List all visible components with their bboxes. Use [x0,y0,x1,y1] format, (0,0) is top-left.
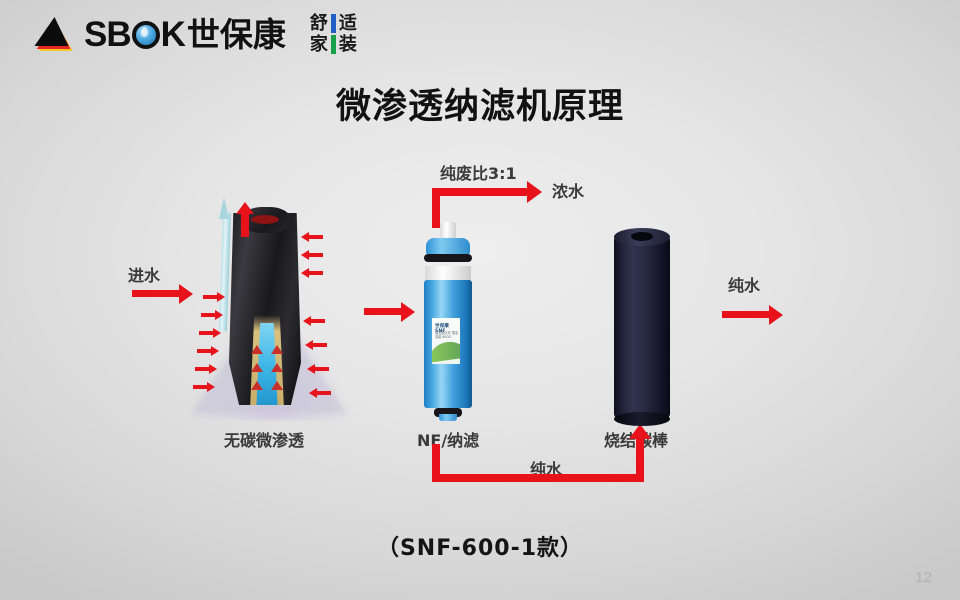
comfort-logo-char-2: 适 [339,15,357,33]
stage1-inflow-arrow-r5 [313,343,327,347]
stage-nf-membrane-illustration: 世保康 SNF 纳滤膜元件 额定流量 600G [418,222,480,420]
arrow-concentrate-head [527,181,542,203]
arrow-return-head [629,424,651,439]
nf-oring-upper [424,254,472,262]
stage1-flow-chevron-1 [251,345,263,354]
stage1-top-port [251,215,279,224]
comfort-logo-bar-blue [331,14,336,33]
stage1-flow-chevron-2 [271,345,283,354]
pipe-return-vertical-right [636,438,644,482]
stage1-inflow-arrow-r7 [317,391,331,395]
pipe-return-horizontal [432,474,644,482]
stage1-flow-chevron-3 [251,363,263,372]
stage1-inflow-arrow-r4 [311,319,325,323]
label-waste-ratio: 纯废比3:1 [440,160,517,184]
nf-foot [439,414,457,421]
stage1-outflow-arrow [241,213,249,237]
stage-sintered-carbon-rod-illustration [614,228,674,420]
brand-letters-sb: SB [84,17,131,52]
stage1-inflow-arrow-l5 [195,367,209,371]
arrow-stage1-to-stage2 [364,308,402,315]
carbon-rod-body [614,236,670,418]
stage1-inflow-arrow-l1 [203,295,217,299]
comfort-home-logo: 舒 适 家 装 [310,14,357,54]
slide-canvas: SB K 世保康 舒 适 家 装 微渗透纳滤机原理 进水 纯废比3:1 浓水 纯… [0,0,960,600]
carbon-rod-center-hole [631,232,653,241]
nf-shoulder [426,238,470,254]
sbok-triangle-logo-icon [36,14,82,54]
label-stage-nf: NF/纳滤 [417,427,479,451]
model-code: （SNF-600-1款） [0,530,960,562]
label-outlet-pure-water: 纯水 [728,272,760,296]
stage1-flow-chevron-5 [251,381,263,390]
label-inlet: 进水 [128,262,160,286]
stage1-inflow-arrow-l4 [197,349,211,353]
comfort-logo-bar-green [331,35,336,54]
brand-name-cn: 世保康 [187,18,286,51]
stage-carbon-free-micro-osmosis-illustration [185,195,360,420]
stage1-inflow-arrow-l3 [199,331,213,335]
comfort-logo-char-4: 装 [339,36,357,54]
slide-title: 微渗透纳滤机原理 [0,78,960,129]
carbon-rod-bottom [614,412,670,426]
stage1-probe-tip [219,197,229,219]
stage1-inflow-arrow-r6 [315,367,329,371]
stage1-inflow-arrow-r1 [309,235,323,239]
label-stage-carbon-free: 无碳微渗透 [224,427,304,451]
pipe-concentrate-horizontal [432,188,528,196]
sbok-brand-lockup: SB K 世保康 [36,14,286,54]
stage1-inflow-arrow-r2 [309,253,323,257]
nf-label-swoosh [432,339,460,362]
brand-wordmark: SB K 世保康 [84,17,286,52]
arrow-outlet [722,311,770,318]
comfort-logo-char-3: 家 [310,36,328,54]
water-drop-o-icon [132,21,160,49]
stage1-inflow-arrow-l6 [193,385,207,389]
brand-letter-k: K [161,17,185,52]
stage1-flow-chevron-6 [271,381,283,390]
arrow-inlet [132,290,180,297]
label-concentrate: 浓水 [552,178,584,202]
brand-logo-area: SB K 世保康 舒 适 家 装 [36,14,357,54]
nf-product-label: 世保康 SNF 纳滤膜元件 额定流量 600G [432,318,460,364]
comfort-logo-char-1: 舒 [310,15,328,33]
page-number: 12 [915,569,932,586]
stage1-inflow-arrow-r3 [309,271,323,275]
stage1-inflow-arrow-l2 [201,313,215,317]
nf-label-line2: 纳滤膜元件 额定流量 600G [435,331,460,340]
logo-triangle-black [34,17,71,46]
stage1-flow-chevron-4 [271,363,283,372]
